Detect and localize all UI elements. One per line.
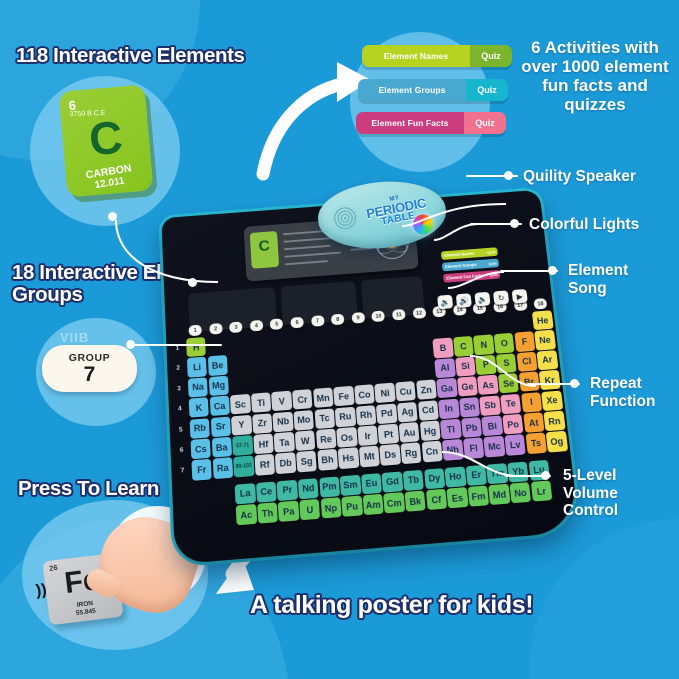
element-cell-be[interactable]: Be (207, 355, 227, 375)
element-cell-li[interactable]: Li (187, 357, 207, 377)
element-cell-ne[interactable]: Ne (534, 330, 555, 350)
element-cell-te[interactable]: Te (500, 393, 521, 414)
element-symbol: Y (238, 420, 245, 431)
actinide-cell-no[interactable]: No (510, 482, 532, 503)
element-cell-w[interactable]: W (295, 430, 316, 451)
leader-curve-repeat (468, 352, 538, 392)
element-symbol: Nb (277, 416, 290, 427)
group-button-4[interactable]: 4 (250, 320, 263, 332)
element-symbol: Ru (339, 411, 352, 422)
element-cell-ts[interactable]: Ts (525, 433, 547, 454)
actinide-cell-np[interactable]: Np (320, 497, 341, 519)
element-symbol: Be (212, 360, 224, 371)
element-symbol: Tb (407, 475, 419, 486)
element-symbol: Cn (425, 446, 438, 457)
element-cell-v[interactable]: V (271, 391, 292, 412)
leader-dot-song (548, 266, 557, 275)
element-cell-bi[interactable]: Bi (482, 415, 504, 436)
element-symbol: Po (507, 419, 520, 430)
element-cell-cd[interactable]: Cd (418, 400, 439, 421)
element-cell-ni[interactable]: Ni (375, 383, 396, 404)
period-number-7: 7 (181, 467, 185, 474)
element-symbol: Xe (546, 395, 558, 406)
infographic-canvas: 118 Interactive Elements 18 Interactive … (0, 0, 679, 679)
element-symbol: Sc (235, 399, 247, 410)
element-symbol: Cm (386, 497, 402, 509)
element-cell-he[interactable]: He (532, 310, 553, 330)
activity-label: Element Fun Facts (356, 112, 464, 134)
group-button-5[interactable]: 5 (270, 318, 284, 330)
lanthanide-cell-sm[interactable]: Sm (340, 475, 361, 496)
element-cell-re[interactable]: Re (316, 429, 337, 450)
leader-line-groups (132, 344, 222, 346)
element-cell-fe[interactable]: Fe (333, 386, 354, 407)
element-symbol: Es (451, 492, 463, 503)
element-symbol: N (480, 340, 487, 350)
element-symbol: Og (550, 436, 564, 447)
element-symbol: Sg (300, 456, 312, 467)
element-symbol: Pd (381, 408, 393, 419)
element-cell-sn[interactable]: Sn (459, 397, 480, 418)
element-cell-h[interactable]: H (186, 337, 206, 357)
activity-pill-element-names[interactable]: Element Names Quiz (362, 45, 512, 67)
element-symbol: Bh (321, 454, 334, 465)
leader-curve-song (446, 268, 506, 292)
heading-118-elements: 118 Interactive Elements (16, 45, 245, 67)
element-symbol: Am (365, 499, 381, 511)
element-symbol: Rn (548, 415, 561, 426)
element-cell-rf[interactable]: Rf (254, 454, 275, 475)
element-symbol: Au (403, 427, 416, 438)
element-cell-rh[interactable]: Rh (356, 405, 377, 426)
element-cell-ba[interactable]: Ba (211, 437, 232, 458)
element-symbol: Hg (424, 425, 437, 436)
element-cell-k[interactable]: K (189, 397, 209, 418)
element-cell-ti[interactable]: Ti (251, 392, 272, 413)
element-symbol: Ar (542, 355, 553, 366)
element-cell-ga[interactable]: Ga (436, 378, 457, 399)
period-number-5: 5 (179, 426, 183, 433)
group-button-8[interactable]: 8 (331, 314, 345, 326)
element-symbol: Cr (297, 394, 308, 405)
element-cell-fr[interactable]: Fr (191, 459, 212, 480)
element-cell-pd[interactable]: Pd (376, 403, 397, 424)
carbon-symbol: C (61, 111, 151, 164)
element-symbol: Al (440, 363, 450, 374)
element-symbol: Ds (384, 449, 397, 460)
activity-label: Element Groups (358, 79, 466, 101)
leader-dot-repeat (570, 379, 579, 388)
element-symbol: Pa (283, 506, 295, 517)
element-symbol: Ca (214, 401, 226, 412)
element-cell-f[interactable]: F (514, 332, 535, 352)
group-button-18[interactable]: 18 (534, 298, 548, 310)
repeat-icon[interactable]: ↻ (493, 290, 509, 305)
group-roman-numeral: VIIB (60, 330, 89, 345)
element-cell-ar[interactable]: Ar (537, 350, 558, 370)
element-symbol: Os (340, 432, 353, 443)
element-cell-na[interactable]: Na (188, 377, 208, 398)
element-cell-bh[interactable]: Bh (317, 449, 338, 470)
lanthanide-cell-la[interactable]: La (235, 483, 256, 504)
element-symbol: K (195, 402, 202, 413)
leader-dot-groups (126, 340, 135, 349)
element-cell-au[interactable]: Au (399, 422, 420, 443)
element-symbol: Ne (539, 335, 552, 346)
actinide-cell-lr[interactable]: Lr (530, 481, 552, 502)
lanthanide-cell-gd[interactable]: Gd (382, 471, 403, 492)
leader-curve-volume (440, 448, 520, 482)
element-symbol: Ir (364, 430, 371, 441)
element-symbol: Np (324, 502, 337, 513)
poster-activity-pill-0[interactable]: Element NamesQuiz (441, 247, 498, 260)
element-symbol: V (278, 396, 285, 406)
element-symbol: Ag (401, 406, 414, 417)
period-number-2: 2 (176, 365, 180, 372)
element-symbol: Ni (380, 388, 390, 399)
lanthanide-cell-tb[interactable]: Tb (403, 470, 424, 491)
element-symbol: 89-103 (236, 463, 252, 470)
element-symbol: Cu (399, 386, 412, 397)
element-symbol: Zr (257, 418, 267, 429)
lanthanide-cell-pr[interactable]: Pr (277, 480, 298, 501)
group-button-12[interactable]: 12 (412, 307, 426, 319)
element-symbol: C (460, 341, 467, 351)
poster-quiz-button[interactable]: Quiz (488, 260, 497, 265)
element-symbol: Rg (405, 448, 418, 459)
element-symbol: Re (320, 433, 332, 444)
element-symbol: Pt (384, 429, 394, 440)
element-symbol: Db (279, 458, 292, 469)
group-button-1[interactable]: 1 (188, 325, 201, 337)
element-cell-xe[interactable]: Xe (541, 390, 563, 411)
element-cell-at[interactable]: At (523, 412, 545, 433)
element-symbol: Li (193, 362, 201, 372)
element-symbol: Bk (409, 496, 422, 507)
leader-curve-elements (112, 216, 222, 288)
element-cell-ds[interactable]: Ds (380, 444, 401, 465)
actinide-cell-cf[interactable]: Cf (426, 489, 448, 511)
actinide-cell-es[interactable]: Es (447, 487, 469, 509)
element-symbol: Pu (346, 501, 359, 512)
element-cell-hf[interactable]: Hf (253, 433, 274, 454)
element-symbol: Nd (302, 483, 315, 494)
element-symbol: I (530, 397, 534, 407)
element-symbol: W (301, 435, 310, 446)
element-cell-hg[interactable]: Hg (419, 420, 440, 441)
element-symbol: Sr (216, 421, 226, 432)
element-cell-sg[interactable]: Sg (296, 451, 317, 472)
actinide-cell-cm[interactable]: Cm (384, 492, 406, 514)
element-symbol: Na (192, 382, 204, 393)
element-cell-kr[interactable]: Kr (539, 370, 561, 391)
element-cell-hs[interactable]: Hs (338, 448, 359, 469)
info-panel-element-tile: C (250, 231, 279, 269)
group-button-2[interactable]: 2 (209, 323, 222, 335)
element-symbol: Lr (536, 486, 546, 497)
callout-element-song: Element Song (568, 262, 658, 297)
element-cell-rb[interactable]: Rb (190, 418, 210, 439)
element-symbol: Rh (360, 410, 373, 421)
element-cell-sr[interactable]: Sr (210, 416, 231, 437)
element-cell-in[interactable]: In (438, 398, 459, 419)
element-symbol: Ta (279, 437, 290, 448)
element-cell-zr[interactable]: Zr (252, 413, 273, 434)
element-symbol: La (240, 488, 251, 499)
heading-press-to-learn: Press To Learn (18, 478, 159, 500)
element-symbol: Ga (440, 383, 453, 394)
element-cell-cu[interactable]: Cu (395, 381, 416, 402)
group-badge-number: 7 (84, 364, 96, 385)
quiz-button[interactable]: Quiz (466, 79, 508, 101)
element-symbol: Cs (195, 443, 207, 454)
element-cell-b[interactable]: B (433, 338, 454, 358)
element-cell-tc[interactable]: Tc (314, 408, 335, 429)
actinide-cell-am[interactable]: Am (362, 494, 383, 516)
play-icon[interactable]: ▶ (512, 289, 528, 304)
actinide-cell-pa[interactable]: Pa (278, 501, 299, 523)
element-symbol: Ce (260, 486, 272, 497)
element-symbol: Mg (212, 380, 226, 391)
element-symbol: Tc (319, 413, 330, 424)
element-symbol: Md (492, 489, 506, 500)
element-symbol: Mn (316, 392, 330, 403)
element-symbol: Eu (365, 478, 378, 489)
element-symbol: Hs (342, 453, 354, 464)
element-cell-po[interactable]: Po (502, 414, 524, 435)
element-symbol: Ac (240, 509, 252, 520)
leader-dot-speaker (504, 171, 513, 180)
volume-down-icon[interactable]: 🔉 (437, 295, 453, 310)
lanthanide-cell-nd[interactable]: Nd (298, 478, 319, 499)
period-number-3: 3 (177, 385, 181, 392)
group-badge: GROUP 7 (42, 345, 137, 392)
actinide-cell-th[interactable]: Th (257, 502, 278, 524)
speaker-grille-icon (331, 204, 359, 232)
info-panel-symbol: C (250, 238, 278, 255)
actinide-cell-ac[interactable]: Ac (236, 504, 257, 526)
element-symbol: Te (505, 398, 516, 409)
carbon-element-card: 6 3750 B.C.E C CARBON 12.011 (59, 84, 154, 197)
period-number-6: 6 (180, 447, 184, 454)
element-cell-ra[interactable]: Ra (212, 457, 233, 478)
group-button-6[interactable]: 6 (290, 317, 304, 329)
activity-pill-element-fun-facts[interactable]: Element Fun Facts Quiz (356, 112, 506, 134)
element-symbol: Pr (282, 485, 292, 496)
element-symbol: In (444, 403, 453, 414)
element-symbol: Ra (217, 463, 229, 474)
element-symbol: F (521, 337, 528, 347)
element-cell-mo[interactable]: Mo (293, 410, 314, 431)
element-symbol: Zn (420, 384, 432, 395)
element-symbol: Rf (260, 459, 270, 470)
element-cell-mn[interactable]: Mn (313, 388, 334, 409)
lanthanide-cell-eu[interactable]: Eu (361, 473, 382, 494)
element-cell-ru[interactable]: Ru (335, 406, 356, 427)
element-symbol: Ba (216, 442, 228, 453)
element-symbol: Mo (297, 414, 311, 425)
element-symbol: Bi (487, 420, 497, 431)
element-cell-rn[interactable]: Rn (544, 411, 566, 432)
group-button-11[interactable]: 11 (392, 309, 406, 321)
element-symbol: Cd (422, 405, 435, 416)
element-cell-y[interactable]: Y (231, 415, 252, 436)
element-cell-co[interactable]: Co (354, 384, 375, 405)
element-symbol: 57-71 (236, 442, 249, 449)
group-button-7[interactable]: 7 (311, 315, 325, 327)
volume-up-icon[interactable]: 🔊 (456, 293, 472, 308)
element-symbol: Fr (197, 464, 207, 475)
actinide-cell-md[interactable]: Md (489, 484, 511, 505)
group-button-10[interactable]: 10 (372, 311, 386, 323)
element-cell-cr[interactable]: Cr (292, 389, 313, 410)
quiz-button[interactable]: Quiz (470, 45, 512, 67)
group-button-3[interactable]: 3 (229, 321, 242, 333)
callout-quility-speaker: Quility Speaker (523, 168, 636, 186)
callout-colorful-lights: Colorful Lights (529, 216, 639, 234)
speaker-icon[interactable]: 🔈 (474, 292, 490, 307)
element-cell-nb[interactable]: Nb (273, 411, 294, 432)
element-cell-pb[interactable]: Pb (461, 417, 482, 438)
element-cell-cs[interactable]: Cs (191, 438, 212, 459)
element-symbol: Th (262, 508, 274, 519)
element-symbol: He (536, 315, 548, 326)
element-cell-mt[interactable]: Mt (359, 446, 380, 467)
element-symbol: Pm (322, 481, 337, 492)
lanthanide-cell-pm[interactable]: Pm (319, 476, 340, 497)
element-symbol: Gd (386, 476, 400, 487)
element-symbol: U (306, 504, 313, 515)
element-symbol: Cf (431, 494, 442, 505)
element-symbol: No (514, 487, 527, 498)
poster-activity-label: Element Names (444, 251, 475, 258)
element-cell-og[interactable]: Og (546, 431, 568, 452)
element-cell-o[interactable]: O (494, 333, 515, 353)
element-symbol: Dy (428, 473, 441, 484)
poster-quiz-button[interactable]: Quiz (487, 249, 496, 254)
element-cell-57-71[interactable]: 57-71 (232, 435, 253, 456)
callout-volume-control: 5-Level Volume Control (563, 467, 659, 520)
element-cell-89-103[interactable]: 89-103 (233, 456, 254, 477)
sound-wave-icon: )) (35, 581, 48, 600)
element-cell-sc[interactable]: Sc (230, 394, 251, 415)
element-cell-db[interactable]: Db (275, 453, 296, 474)
actinide-cell-bk[interactable]: Bk (405, 491, 427, 513)
element-symbol: B (439, 343, 446, 353)
element-symbol: Pb (465, 422, 478, 433)
leader-dot-volume (541, 471, 550, 480)
element-symbol: Fe (338, 391, 349, 402)
element-cell-al[interactable]: Al (434, 358, 455, 378)
callout-repeat-function: Repeat Function (590, 375, 676, 410)
activity-pill-element-groups[interactable]: Element Groups Quiz (358, 79, 508, 101)
element-symbol: Ti (257, 397, 265, 408)
element-cell-ca[interactable]: Ca (209, 396, 229, 417)
activity-label: Element Names (362, 45, 470, 67)
actinide-cell-fm[interactable]: Fm (468, 486, 490, 507)
element-symbol: Rb (194, 423, 207, 434)
leader-curve-lights (432, 222, 480, 244)
element-cell-ta[interactable]: Ta (274, 432, 295, 453)
period-number-4: 4 (178, 405, 182, 412)
element-cell-i[interactable]: I (521, 392, 543, 413)
element-cell-rg[interactable]: Rg (400, 443, 421, 464)
actinide-cell-pu[interactable]: Pu (341, 496, 362, 518)
group-button-9[interactable]: 9 (351, 312, 365, 324)
leader-dot-elements (108, 212, 117, 221)
element-symbol: Sb (484, 400, 497, 411)
element-symbol: Mt (364, 451, 375, 462)
element-symbol: Ts (530, 438, 541, 449)
element-symbol: Fm (471, 491, 486, 502)
element-cell-tl[interactable]: Tl (440, 419, 461, 440)
actinide-cell-u[interactable]: U (299, 499, 320, 521)
element-symbol: Hf (258, 438, 268, 449)
element-symbol: O (500, 338, 508, 348)
quiz-button[interactable]: Quiz (464, 112, 506, 134)
element-symbol: Sn (463, 402, 476, 413)
element-cell-pt[interactable]: Pt (378, 424, 399, 445)
element-symbol: Tl (446, 424, 455, 435)
leader-dot-lights (510, 219, 519, 228)
element-cell-zn[interactable]: Zn (416, 380, 437, 401)
leader-dot-elements-end (188, 278, 197, 287)
element-symbol: Sm (343, 480, 358, 491)
element-cell-ag[interactable]: Ag (397, 401, 418, 422)
heading-6-activities: 6 Activities with over 1000 element fun … (515, 38, 675, 114)
element-symbol: Co (358, 389, 371, 400)
element-cell-ir[interactable]: Ir (357, 425, 378, 446)
element-cell-sb[interactable]: Sb (479, 395, 500, 416)
element-cell-os[interactable]: Os (336, 427, 357, 448)
lanthanide-cell-ce[interactable]: Ce (256, 481, 277, 502)
element-cell-mg[interactable]: Mg (208, 375, 228, 396)
element-symbol: At (528, 417, 539, 428)
